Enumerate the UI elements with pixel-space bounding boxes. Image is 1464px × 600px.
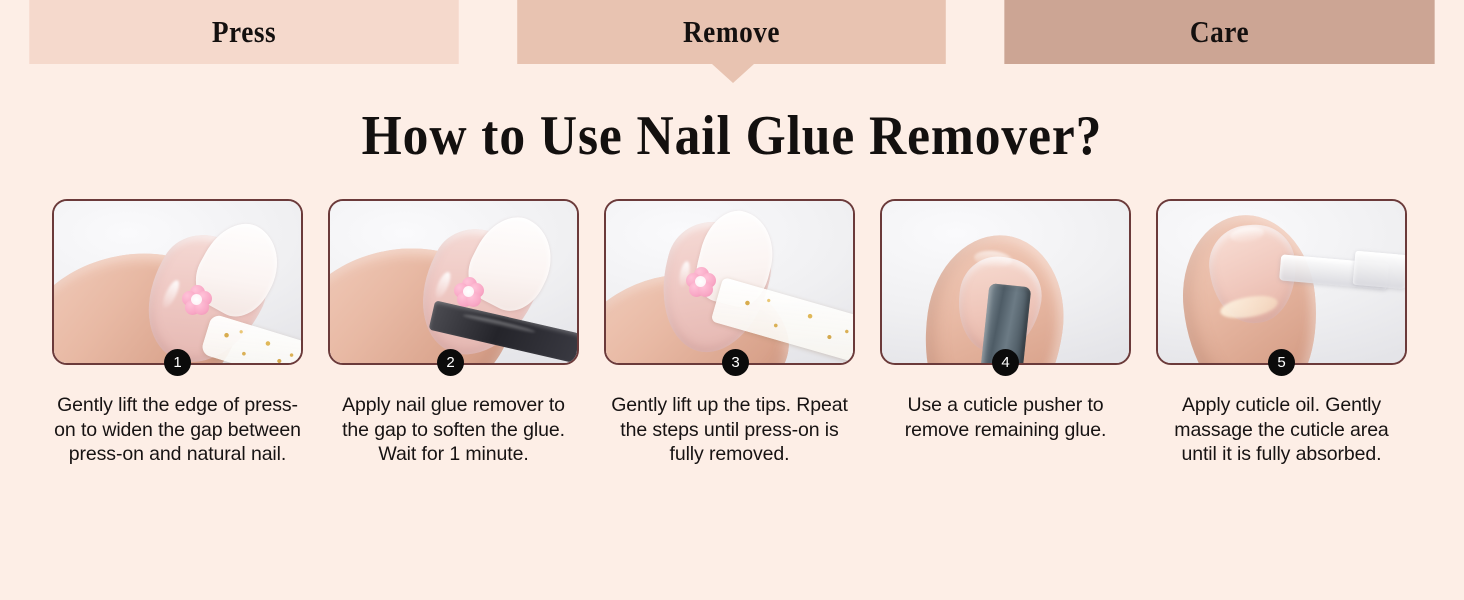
tab-press[interactable]: Press — [29, 0, 458, 64]
steps-list: 1 Gently lift the edge of press-on to wi… — [52, 199, 1412, 467]
step-caption-4: Use a cuticle pusher to remove remaining… — [880, 393, 1131, 442]
step-photo-2 — [330, 201, 577, 363]
step-caption-5: Apply cuticle oil. Gently massage the cu… — [1156, 393, 1407, 467]
step-photo-5 — [1158, 201, 1405, 363]
infographic-page: Press Remove Care How to Use Nail Glue R… — [0, 0, 1464, 600]
step-card-5[interactable]: 5 — [1156, 199, 1407, 365]
step-badge-2: 2 — [437, 349, 464, 376]
step-badge-3: 3 — [722, 349, 749, 376]
tab-care[interactable]: Care — [1004, 0, 1434, 64]
step-card-1[interactable]: 1 — [52, 199, 303, 365]
step-card-3[interactable]: 3 — [604, 199, 855, 365]
step-item: 2 Apply nail glue remover to the gap to … — [328, 199, 579, 467]
step-caption-2: Apply nail glue remover to the gap to so… — [328, 393, 579, 467]
step-item: 3 Gently lift up the tips. Rpeat the ste… — [604, 199, 855, 467]
step-card-2[interactable]: 2 — [328, 199, 579, 365]
step-item: 5 Apply cuticle oil. Gently massage the … — [1156, 199, 1407, 467]
step-card-4[interactable]: 4 — [880, 199, 1131, 365]
tab-bar: Press Remove Care — [0, 0, 1464, 64]
step-photo-1 — [54, 201, 301, 363]
tab-remove[interactable]: Remove — [517, 0, 946, 64]
step-badge-1: 1 — [164, 349, 191, 376]
step-badge-4: 4 — [992, 349, 1019, 376]
step-item: 4 Use a cuticle pusher to remove remaini… — [880, 199, 1131, 467]
page-title: How to Use Nail Glue Remover? — [59, 104, 1406, 168]
step-badge-5: 5 — [1268, 349, 1295, 376]
step-item: 1 Gently lift the edge of press-on to wi… — [52, 199, 303, 467]
step-caption-3: Gently lift up the tips. Rpeat the steps… — [604, 393, 855, 467]
step-photo-4 — [882, 201, 1129, 363]
step-photo-3 — [606, 201, 853, 363]
step-caption-1: Gently lift the edge of press-on to wide… — [52, 393, 303, 467]
active-tab-pointer-icon — [712, 64, 754, 83]
